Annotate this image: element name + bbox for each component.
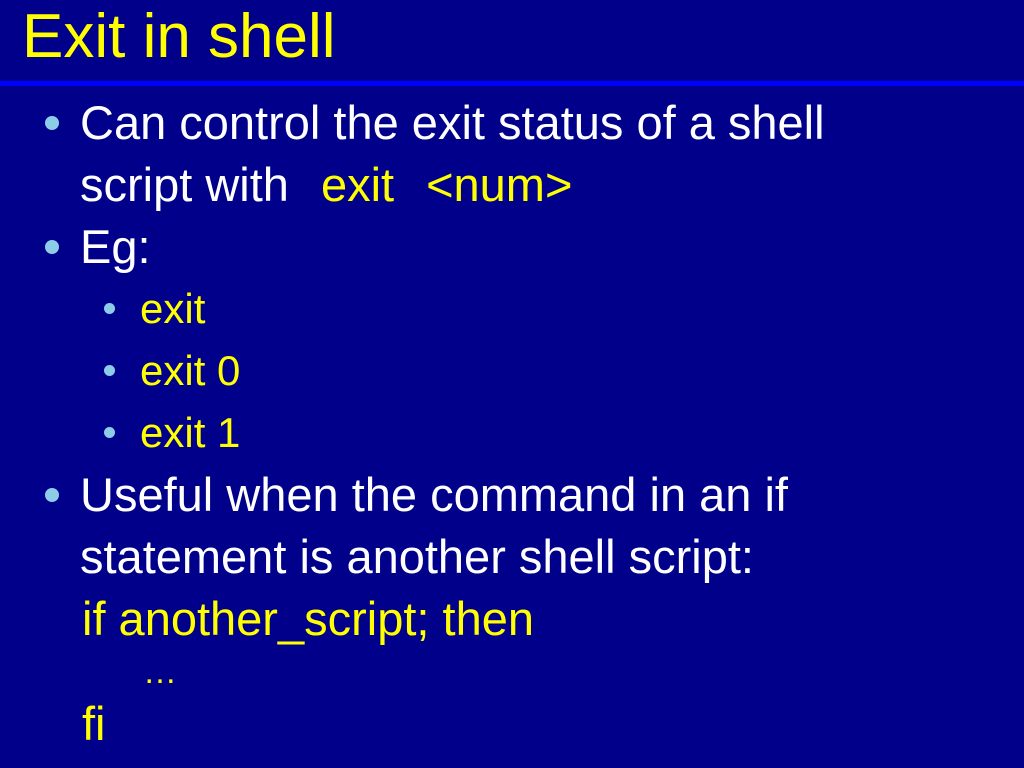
sub-bullet-text: exit 1 <box>140 402 1024 464</box>
code-line-fi: fi <box>0 694 1024 754</box>
sub-list-item: exit <box>0 278 1024 340</box>
bullet-text: Useful when the command in an if <box>80 468 788 521</box>
sub-bullet-dot-icon <box>104 303 115 314</box>
sub-bullet-text: exit <box>140 278 1024 340</box>
bullet-text: Can control the exit status of a shell <box>80 96 825 149</box>
bullet-line: Useful when the command in an if <box>80 464 1024 526</box>
bullet-line: Can control the exit status of a shell <box>80 92 1024 154</box>
inline-code-exit: exit <box>321 158 394 211</box>
sub-list-item: exit 1 <box>0 402 1024 464</box>
slide-canvas: Exit in shell Can control the exit statu… <box>0 0 1024 768</box>
code-line-if: if another_script; then <box>0 588 1024 650</box>
bullet-text: Eg: <box>80 220 151 273</box>
bullet-line: statement is another shell script: <box>80 526 1024 588</box>
list-item-continuation: script withexit<num> <box>0 154 1024 216</box>
bullet-line: Eg: <box>80 216 1024 278</box>
page-title: Exit in shell <box>22 0 336 76</box>
slide-body: Can control the exit status of a shell s… <box>0 92 1024 754</box>
inline-code-num: <num> <box>426 158 572 211</box>
list-item: Eg: <box>0 216 1024 278</box>
bullet-text: script with <box>80 158 289 211</box>
bullet-dot-icon <box>45 488 59 502</box>
sub-list-item: exit 0 <box>0 340 1024 402</box>
title-area: Exit in shell <box>0 0 1024 86</box>
code-line-ellipsis: … <box>0 650 1024 694</box>
list-item-continuation: statement is another shell script: <box>0 526 1024 588</box>
bullet-dot-icon <box>45 240 59 254</box>
list-item: Useful when the command in an if <box>0 464 1024 526</box>
sub-bullet-dot-icon <box>104 427 115 438</box>
bullet-line: script withexit<num> <box>80 154 1024 216</box>
bullet-dot-icon <box>45 116 59 130</box>
title-divider <box>0 81 1024 86</box>
sub-bullet-text: exit 0 <box>140 340 1024 402</box>
list-item: Can control the exit status of a shell <box>0 92 1024 154</box>
bullet-text: statement is another shell script: <box>80 530 754 583</box>
sub-bullet-dot-icon <box>104 365 115 376</box>
